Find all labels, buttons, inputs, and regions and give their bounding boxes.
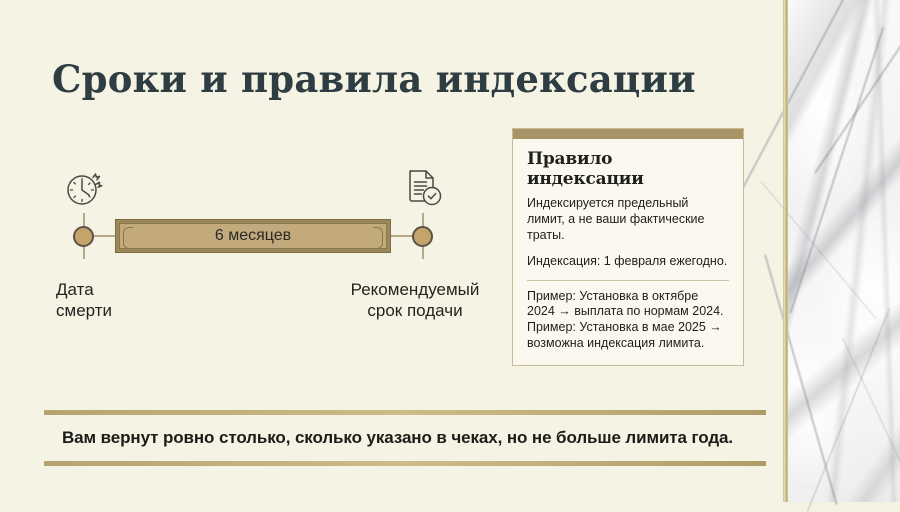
timeline-end-label-line2: срок подачи: [340, 301, 490, 322]
timeline-start-label-line1: Дата: [56, 280, 112, 301]
marble-vein: [764, 255, 837, 505]
marble-vein: [738, 0, 852, 196]
bar-notch-left: [123, 227, 133, 249]
card-paragraph-1: Индексируется предельный лимит, а не ваш…: [527, 196, 729, 244]
document-check-icon: [400, 165, 446, 211]
card-body: Правило индексации Индексируется предель…: [513, 139, 743, 362]
card-separator: [527, 280, 729, 281]
card-top-accent-bar: [513, 129, 743, 139]
duration-bar-inner: 6 месяцев: [119, 223, 387, 249]
timeline-diagram: 6 месяцев Дата смерти Рекомендуемый срок…: [52, 165, 512, 330]
timeline-node-start: [73, 226, 94, 247]
duration-bar: 6 месяцев: [115, 219, 391, 253]
timeline-connector-left: [94, 235, 117, 237]
banner-rule-bottom: [44, 461, 766, 466]
timeline-start-label: Дата смерти: [56, 280, 112, 321]
timeline-end-label: Рекомендуемый срок подачи: [340, 280, 490, 321]
timeline-node-end: [412, 226, 433, 247]
timeline-start-label-line2: смерти: [56, 301, 112, 322]
gold-divider-line: [783, 0, 788, 502]
slide-canvas: Сроки и правила индексации: [0, 0, 900, 502]
banner-text: Вам вернут ровно столько, сколько указан…: [44, 415, 766, 461]
alarm-clock-icon: [62, 165, 108, 211]
timeline-end-label-line1: Рекомендуемый: [340, 280, 490, 301]
marble-vein: [807, 308, 891, 512]
marble-texture-panel: [788, 0, 900, 502]
timeline-connector-right: [389, 235, 413, 237]
card-example-2: Пример: Установка в мае 2025 → возможна …: [527, 320, 729, 352]
card-example-1: Пример: Установка в октябре 2024 → выпла…: [527, 289, 729, 321]
duration-label: 6 месяцев: [215, 227, 291, 245]
bottom-banner: Вам вернут ровно столько, сколько указан…: [44, 410, 766, 466]
marble-vein: [842, 338, 900, 493]
indexation-rule-card: Правило индексации Индексируется предель…: [512, 128, 744, 366]
bar-notch-right: [373, 227, 383, 249]
card-title: Правило индексации: [527, 149, 729, 189]
card-paragraph-2: Индексация: 1 февраля ежегодно.: [527, 254, 729, 270]
page-title: Сроки и правила индексации: [52, 57, 696, 101]
